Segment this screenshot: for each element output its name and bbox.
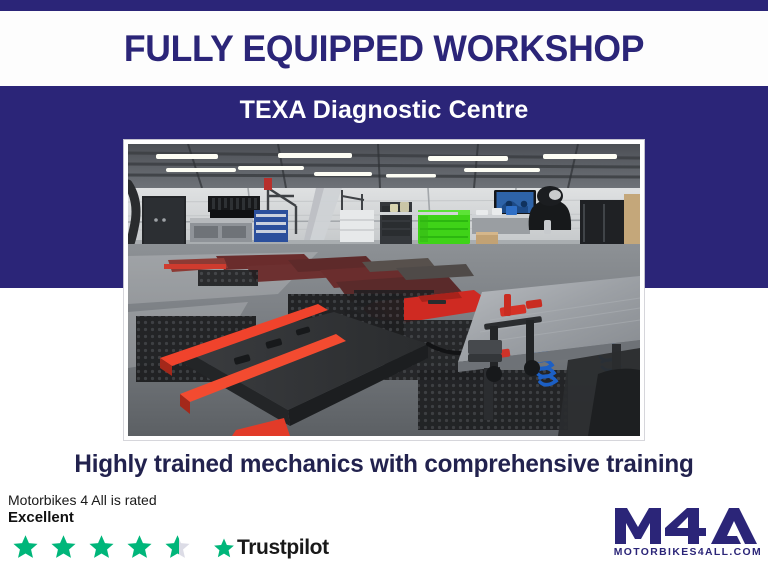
star-icon: [8, 530, 43, 565]
workshop-photo: [128, 144, 640, 436]
trustpilot-stars: [8, 530, 195, 565]
subtitle: TEXA Diagnostic Centre: [0, 96, 768, 125]
star-icon: [160, 530, 195, 565]
headline-band: FULLY EQUIPPED WORKSHOP: [0, 11, 768, 86]
star-icon: [84, 530, 119, 565]
star-5-partial: [160, 530, 195, 565]
star-1: [8, 530, 43, 565]
m4a-logo[interactable]: MOTORBIKES4ALL.COM: [613, 505, 758, 558]
page-title: FULLY EQUIPPED WORKSHOP: [124, 30, 644, 67]
trustpilot-widget[interactable]: Motorbikes 4 All is rated Excellent: [8, 492, 338, 565]
trustpilot-star-icon: [213, 537, 235, 559]
poster-root: FULLY EQUIPPED WORKSHOP TEXA Diagnostic …: [0, 0, 768, 576]
m4a-logo-icon: [613, 505, 758, 547]
trustpilot-rated-text: Motorbikes 4 All is rated: [8, 492, 338, 508]
workshop-photo-illustration: [128, 144, 640, 436]
star-icon: [122, 530, 157, 565]
workshop-photo-frame: [124, 140, 644, 440]
star-4: [122, 530, 157, 565]
trustpilot-rating-row: Trustpilot: [8, 530, 338, 565]
star-2: [46, 530, 81, 565]
trustpilot-brand[interactable]: Trustpilot: [213, 537, 329, 559]
top-navy-strip: [0, 0, 768, 11]
trustpilot-score-word: Excellent: [8, 509, 338, 527]
m4a-logo-domain: MOTORBIKES4ALL.COM: [614, 546, 758, 558]
trustpilot-brand-text: Trustpilot: [237, 537, 329, 558]
star-3: [84, 530, 119, 565]
tagline: Highly trained mechanics with comprehens…: [12, 450, 757, 479]
star-icon: [46, 530, 81, 565]
